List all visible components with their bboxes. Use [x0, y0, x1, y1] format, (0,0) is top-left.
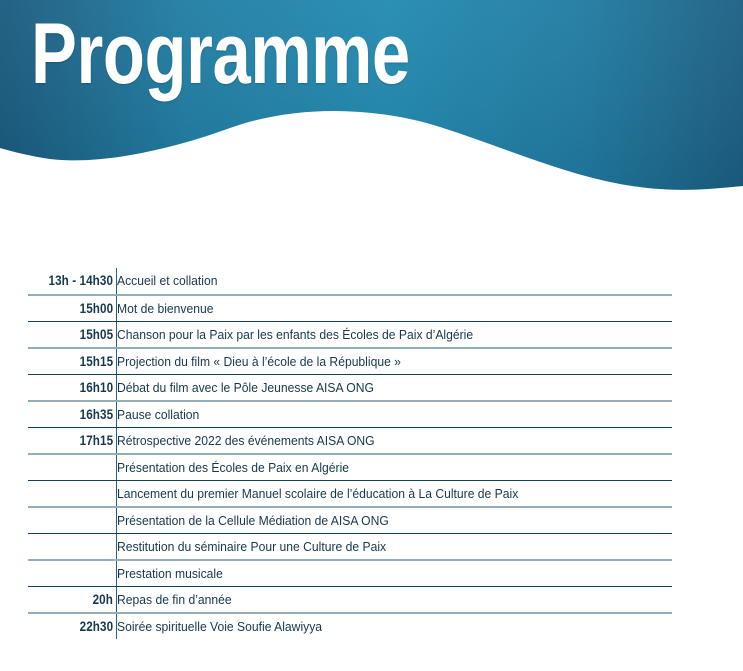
schedule-row: 17h15Rétrospective 2022 des événements A… [28, 427, 672, 454]
schedule-event-cell: Chanson pour la Paix par les enfants des… [117, 321, 673, 348]
schedule-time-label: 15h00 [80, 301, 114, 316]
schedule-event-cell: Présentation des Écoles de Paix en Algér… [117, 454, 673, 481]
schedule-event-cell: Mot de bienvenue [117, 295, 673, 322]
schedule-row: Présentation des Écoles de Paix en Algér… [28, 454, 672, 481]
schedule-time-cell [31, 560, 114, 587]
schedule-time-cell: 13h - 14h30 [31, 268, 114, 295]
schedule-time-label: 15h15 [80, 354, 114, 369]
schedule-event-cell: Accueil et collation [117, 268, 673, 295]
schedule-time-cell: 16h10 [31, 374, 114, 401]
schedule-event-cell: Repas de fin d’année [117, 586, 673, 613]
schedule-time-cell: 22h30 [31, 613, 114, 640]
schedule-time-label: 16h10 [80, 380, 114, 395]
schedule-event-label: Rétrospective 2022 des événements AISA O… [117, 433, 375, 448]
schedule-row: 15h00Mot de bienvenue [28, 295, 672, 322]
schedule-event-cell: Rétrospective 2022 des événements AISA O… [117, 427, 673, 454]
schedule-event-label: Présentation des Écoles de Paix en Algér… [117, 460, 349, 475]
schedule-time-label: 15h05 [80, 327, 114, 342]
schedule-time-cell: 15h05 [31, 321, 114, 348]
schedule-event-cell: Restitution du séminaire Pour une Cultur… [117, 533, 673, 560]
schedule-event-label: Repas de fin d’année [117, 592, 232, 607]
schedule-event-cell: Prestation musicale [117, 560, 673, 587]
schedule-event-cell: Débat du film avec le Pôle Jeunesse AISA… [117, 374, 673, 401]
schedule-event-label: Prestation musicale [117, 566, 223, 581]
schedule-table: 13h - 14h30Accueil et collation15h00Mot … [28, 268, 672, 639]
schedule-time-cell: 15h15 [31, 348, 114, 375]
schedule-event-cell: Présentation de la Cellule Médiation de … [117, 507, 673, 534]
schedule-row: Restitution du séminaire Pour une Cultur… [28, 533, 672, 560]
header-banner: Programme [0, 0, 743, 205]
schedule-row: Lancement du premier Manuel scolaire de … [28, 480, 672, 507]
page-title: Programme [31, 7, 410, 101]
schedule-row: 15h15Projection du film « Dieu à l’école… [28, 348, 672, 375]
schedule-row: 16h35Pause collation [28, 401, 672, 428]
schedule-time-cell: 20h [31, 586, 114, 613]
schedule-event-label: Lancement du premier Manuel scolaire de … [117, 486, 518, 501]
schedule-event-cell: Projection du film « Dieu à l’école de l… [117, 348, 673, 375]
schedule-table-body: 13h - 14h30Accueil et collation15h00Mot … [28, 268, 672, 639]
schedule-time-label: 16h35 [80, 407, 114, 422]
schedule-time-label: 17h15 [80, 433, 114, 448]
schedule-event-cell: Pause collation [117, 401, 673, 428]
schedule-row: Prestation musicale [28, 560, 672, 587]
schedule-event-label: Présentation de la Cellule Médiation de … [117, 513, 389, 528]
schedule-time-cell: 17h15 [31, 427, 114, 454]
schedule-time-label: 20h [93, 592, 113, 607]
schedule-event-label: Accueil et collation [117, 273, 217, 288]
schedule-time-cell [31, 533, 114, 560]
schedule-time-cell: 16h35 [31, 401, 114, 428]
schedule-time-cell [31, 454, 114, 481]
schedule-time-cell [31, 480, 114, 507]
schedule-event-label: Projection du film « Dieu à l’école de l… [117, 354, 401, 369]
schedule-row: 13h - 14h30Accueil et collation [28, 268, 672, 295]
schedule-row: 15h05Chanson pour la Paix par les enfant… [28, 321, 672, 348]
schedule-row: 22h30Soirée spirituelle Voie Soufie Alaw… [28, 613, 672, 640]
schedule-time-label: 22h30 [80, 619, 114, 634]
schedule-row: 20hRepas de fin d’année [28, 586, 672, 613]
schedule-time-cell [31, 507, 114, 534]
schedule-event-cell: Lancement du premier Manuel scolaire de … [117, 480, 673, 507]
schedule-row: 16h10Débat du film avec le Pôle Jeunesse… [28, 374, 672, 401]
schedule-time-cell: 15h00 [31, 295, 114, 322]
schedule-event-cell: Soirée spirituelle Voie Soufie Alawiyya [117, 613, 673, 640]
schedule-event-label: Débat du film avec le Pôle Jeunesse AISA… [117, 380, 374, 395]
schedule-row: Présentation de la Cellule Médiation de … [28, 507, 672, 534]
schedule-event-label: Restitution du séminaire Pour une Cultur… [117, 539, 386, 554]
schedule-event-label: Chanson pour la Paix par les enfants des… [117, 327, 473, 342]
schedule-event-label: Soirée spirituelle Voie Soufie Alawiyya [117, 619, 322, 634]
schedule-event-label: Pause collation [117, 407, 199, 422]
schedule-time-label: 13h - 14h30 [49, 273, 114, 288]
schedule-event-label: Mot de bienvenue [117, 301, 213, 316]
